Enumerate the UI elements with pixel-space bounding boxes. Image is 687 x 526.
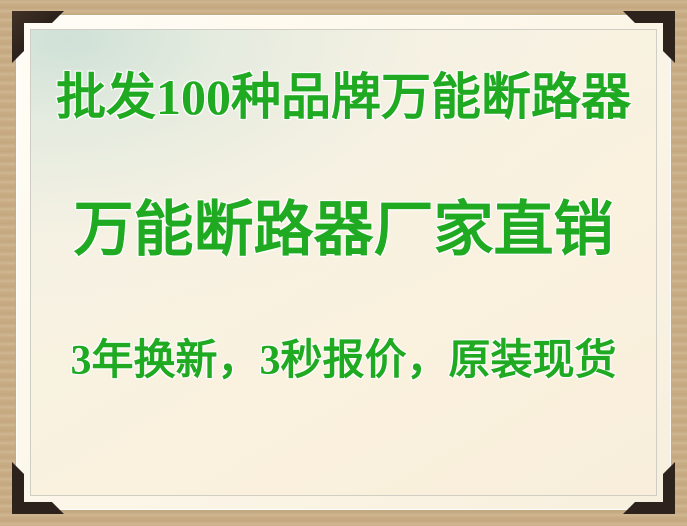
headline-line-3: 3年换新，3秒报价，原装现货 <box>31 340 656 382</box>
headline-stack: 批发100种品牌万能断路器 万能断路器厂家直销 3年换新，3秒报价，原装现货 <box>31 30 656 495</box>
headline-line-2: 万能断路器厂家直销 <box>31 200 656 260</box>
promo-banner: 批发100种品牌万能断路器 万能断路器厂家直销 3年换新，3秒报价，原装现货 <box>0 0 687 526</box>
inner-display-panel: 批发100种品牌万能断路器 万能断路器厂家直销 3年换新，3秒报价，原装现货 <box>31 30 656 495</box>
headline-line-1: 批发100种品牌万能断路器 <box>31 72 656 122</box>
